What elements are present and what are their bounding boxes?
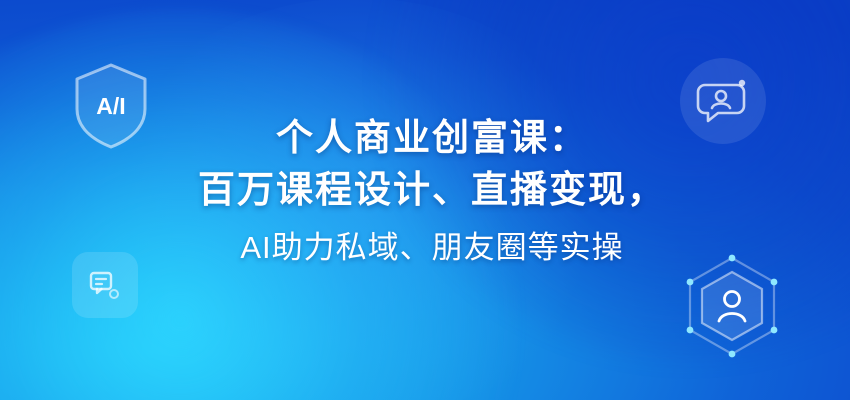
title-line-3: AI助力私域、朋友圈等实操: [14, 222, 850, 274]
course-banner: A/I: [0, 0, 850, 400]
title-line-1: 个人商业创富课：: [14, 112, 850, 164]
banner-title-block: 个人商业创富课： 百万课程设计、直播变现， AI助力私域、朋友圈等实操: [0, 112, 850, 274]
title-line-2: 百万课程设计、直播变现，: [14, 164, 850, 216]
